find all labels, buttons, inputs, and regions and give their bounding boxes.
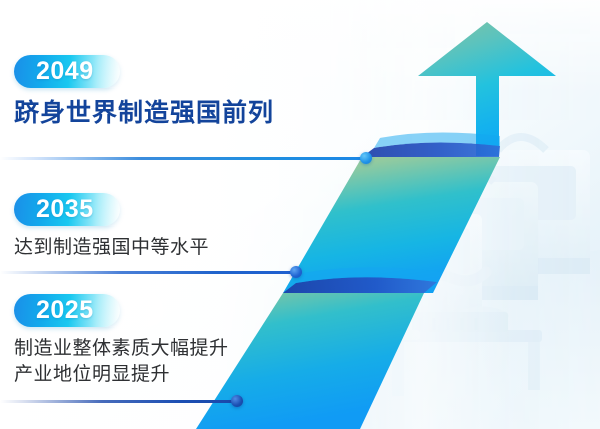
milestone-description: 达到制造强国中等水平 (14, 235, 209, 261)
arrow-step-2025 (196, 292, 430, 429)
year-label: 2025 (36, 296, 94, 324)
description-line: 达到制造强国中等水平 (14, 235, 209, 261)
year-badge-2025: 2025 (14, 294, 120, 327)
milestone-description: 跻身世界制造强国前列 (14, 97, 274, 129)
arrow-step-2035 (283, 157, 500, 293)
description-line: 跻身世界制造强国前列 (14, 97, 274, 129)
year-label: 2035 (36, 195, 94, 223)
milestone-2035: 2035 达到制造强国中等水平 (14, 193, 209, 261)
milestone-description: 制造业整体素质大幅提升 产业地位明显提升 (14, 336, 229, 388)
connector-bar (0, 400, 243, 403)
connector-dot (290, 266, 302, 278)
description-line: 产业地位明显提升 (14, 362, 229, 388)
year-badge-pill: 2025 (14, 294, 120, 327)
year-badge-2049: 2049 (14, 55, 120, 88)
year-badge-pill: 2049 (14, 55, 120, 88)
milestone-2025: 2025 制造业整体素质大幅提升 产业地位明显提升 (14, 294, 229, 388)
connector-dot (231, 395, 243, 407)
connector-dot (360, 152, 372, 164)
year-badge-2035: 2035 (14, 193, 120, 226)
arrow-head-2049 (362, 22, 556, 157)
connector-line-2025 (0, 394, 243, 408)
description-line: 制造业整体素质大幅提升 (14, 336, 229, 362)
connector-bar (0, 271, 302, 274)
connector-line-2049 (0, 151, 372, 165)
year-badge-pill: 2035 (14, 193, 120, 226)
connector-line-2035 (0, 265, 302, 279)
infographic-poster: 2049 跻身世界制造强国前列 2035 达到制造强国中等水平 2025 (0, 0, 600, 429)
year-label: 2049 (36, 57, 94, 85)
milestone-2049: 2049 跻身世界制造强国前列 (14, 55, 274, 129)
connector-bar (0, 157, 372, 160)
